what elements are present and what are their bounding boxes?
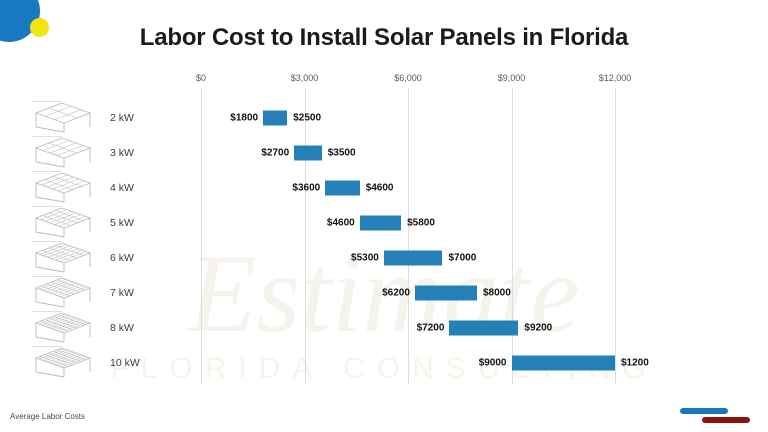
chart-row: 6 kW$5300$7000 xyxy=(0,240,768,275)
bar-value-low: $3600 xyxy=(292,182,320,193)
bar-value-low: $9000 xyxy=(479,357,507,368)
chart-row: 5 kW$4600$5800 xyxy=(0,205,768,240)
chart-row: 4 kW$3600$4600 xyxy=(0,170,768,205)
category-label: 5 kW xyxy=(110,217,134,229)
bar-value-low: $5300 xyxy=(351,252,379,263)
x-axis-tick-label: $12,000 xyxy=(599,73,632,83)
bar-value-low: $7200 xyxy=(417,322,445,333)
bar-value-high: $3500 xyxy=(328,147,356,158)
range-bar xyxy=(512,355,616,370)
solar-array-icon-4kw xyxy=(32,171,94,205)
category-label: 6 kW xyxy=(110,252,134,264)
footer-bar-blue-icon xyxy=(680,408,728,414)
bar-value-high: $2500 xyxy=(293,112,321,123)
chart-plot-area: $0$3,000$6,000$9,000$12,0002 kW$1800$250… xyxy=(0,0,768,432)
bar-value-low: $4600 xyxy=(327,217,355,228)
bar-value-low: $2700 xyxy=(261,147,289,158)
x-axis-tick-label: $6,000 xyxy=(394,73,422,83)
range-bar xyxy=(294,145,322,160)
x-axis-tick-label: $9,000 xyxy=(498,73,526,83)
category-label: 8 kW xyxy=(110,322,134,334)
range-bar xyxy=(415,285,477,300)
bar-value-high: $8000 xyxy=(483,287,511,298)
range-bar xyxy=(360,215,401,230)
solar-array-icon-6kw xyxy=(32,241,94,275)
x-axis-tick-label: $0 xyxy=(196,73,206,83)
footer-decoration xyxy=(680,408,750,426)
range-bar xyxy=(384,250,443,265)
bar-value-high: $1200 xyxy=(621,357,649,368)
x-axis-tick-label: $3,000 xyxy=(291,73,319,83)
solar-array-icon-8kw xyxy=(32,311,94,345)
chart-row: 10 kW$9000$1200 xyxy=(0,345,768,380)
footer-bar-red-icon xyxy=(702,417,750,423)
category-label: 7 kW xyxy=(110,287,134,299)
bar-value-high: $9200 xyxy=(524,322,552,333)
bar-value-high: $5800 xyxy=(407,217,435,228)
bar-value-high: $4600 xyxy=(366,182,394,193)
category-label: 10 kW xyxy=(110,357,140,369)
category-label: 2 kW xyxy=(110,112,134,124)
solar-array-icon-10kw xyxy=(32,346,94,380)
chart-row: 8 kW$7200$9200 xyxy=(0,310,768,345)
solar-array-icon-3kw xyxy=(32,136,94,170)
range-bar xyxy=(449,320,518,335)
category-label: 3 kW xyxy=(110,147,134,159)
bar-value-high: $7000 xyxy=(449,252,477,263)
chart-row: 3 kW$2700$3500 xyxy=(0,135,768,170)
solar-array-icon-7kw xyxy=(32,276,94,310)
chart-row: 7 kW$6200$8000 xyxy=(0,275,768,310)
bar-value-low: $1800 xyxy=(230,112,258,123)
category-label: 4 kW xyxy=(110,182,134,194)
page-title: Labor Cost to Install Solar Panels in Fl… xyxy=(0,24,768,52)
bar-value-low: $6200 xyxy=(382,287,410,298)
range-bar xyxy=(325,180,360,195)
solar-array-icon-5kw xyxy=(32,206,94,240)
chart-row: 2 kW$1800$2500 xyxy=(0,100,768,135)
solar-array-icon-2kw xyxy=(32,101,94,135)
footer-note: Average Labor Costs xyxy=(10,412,85,421)
range-bar xyxy=(263,110,287,125)
